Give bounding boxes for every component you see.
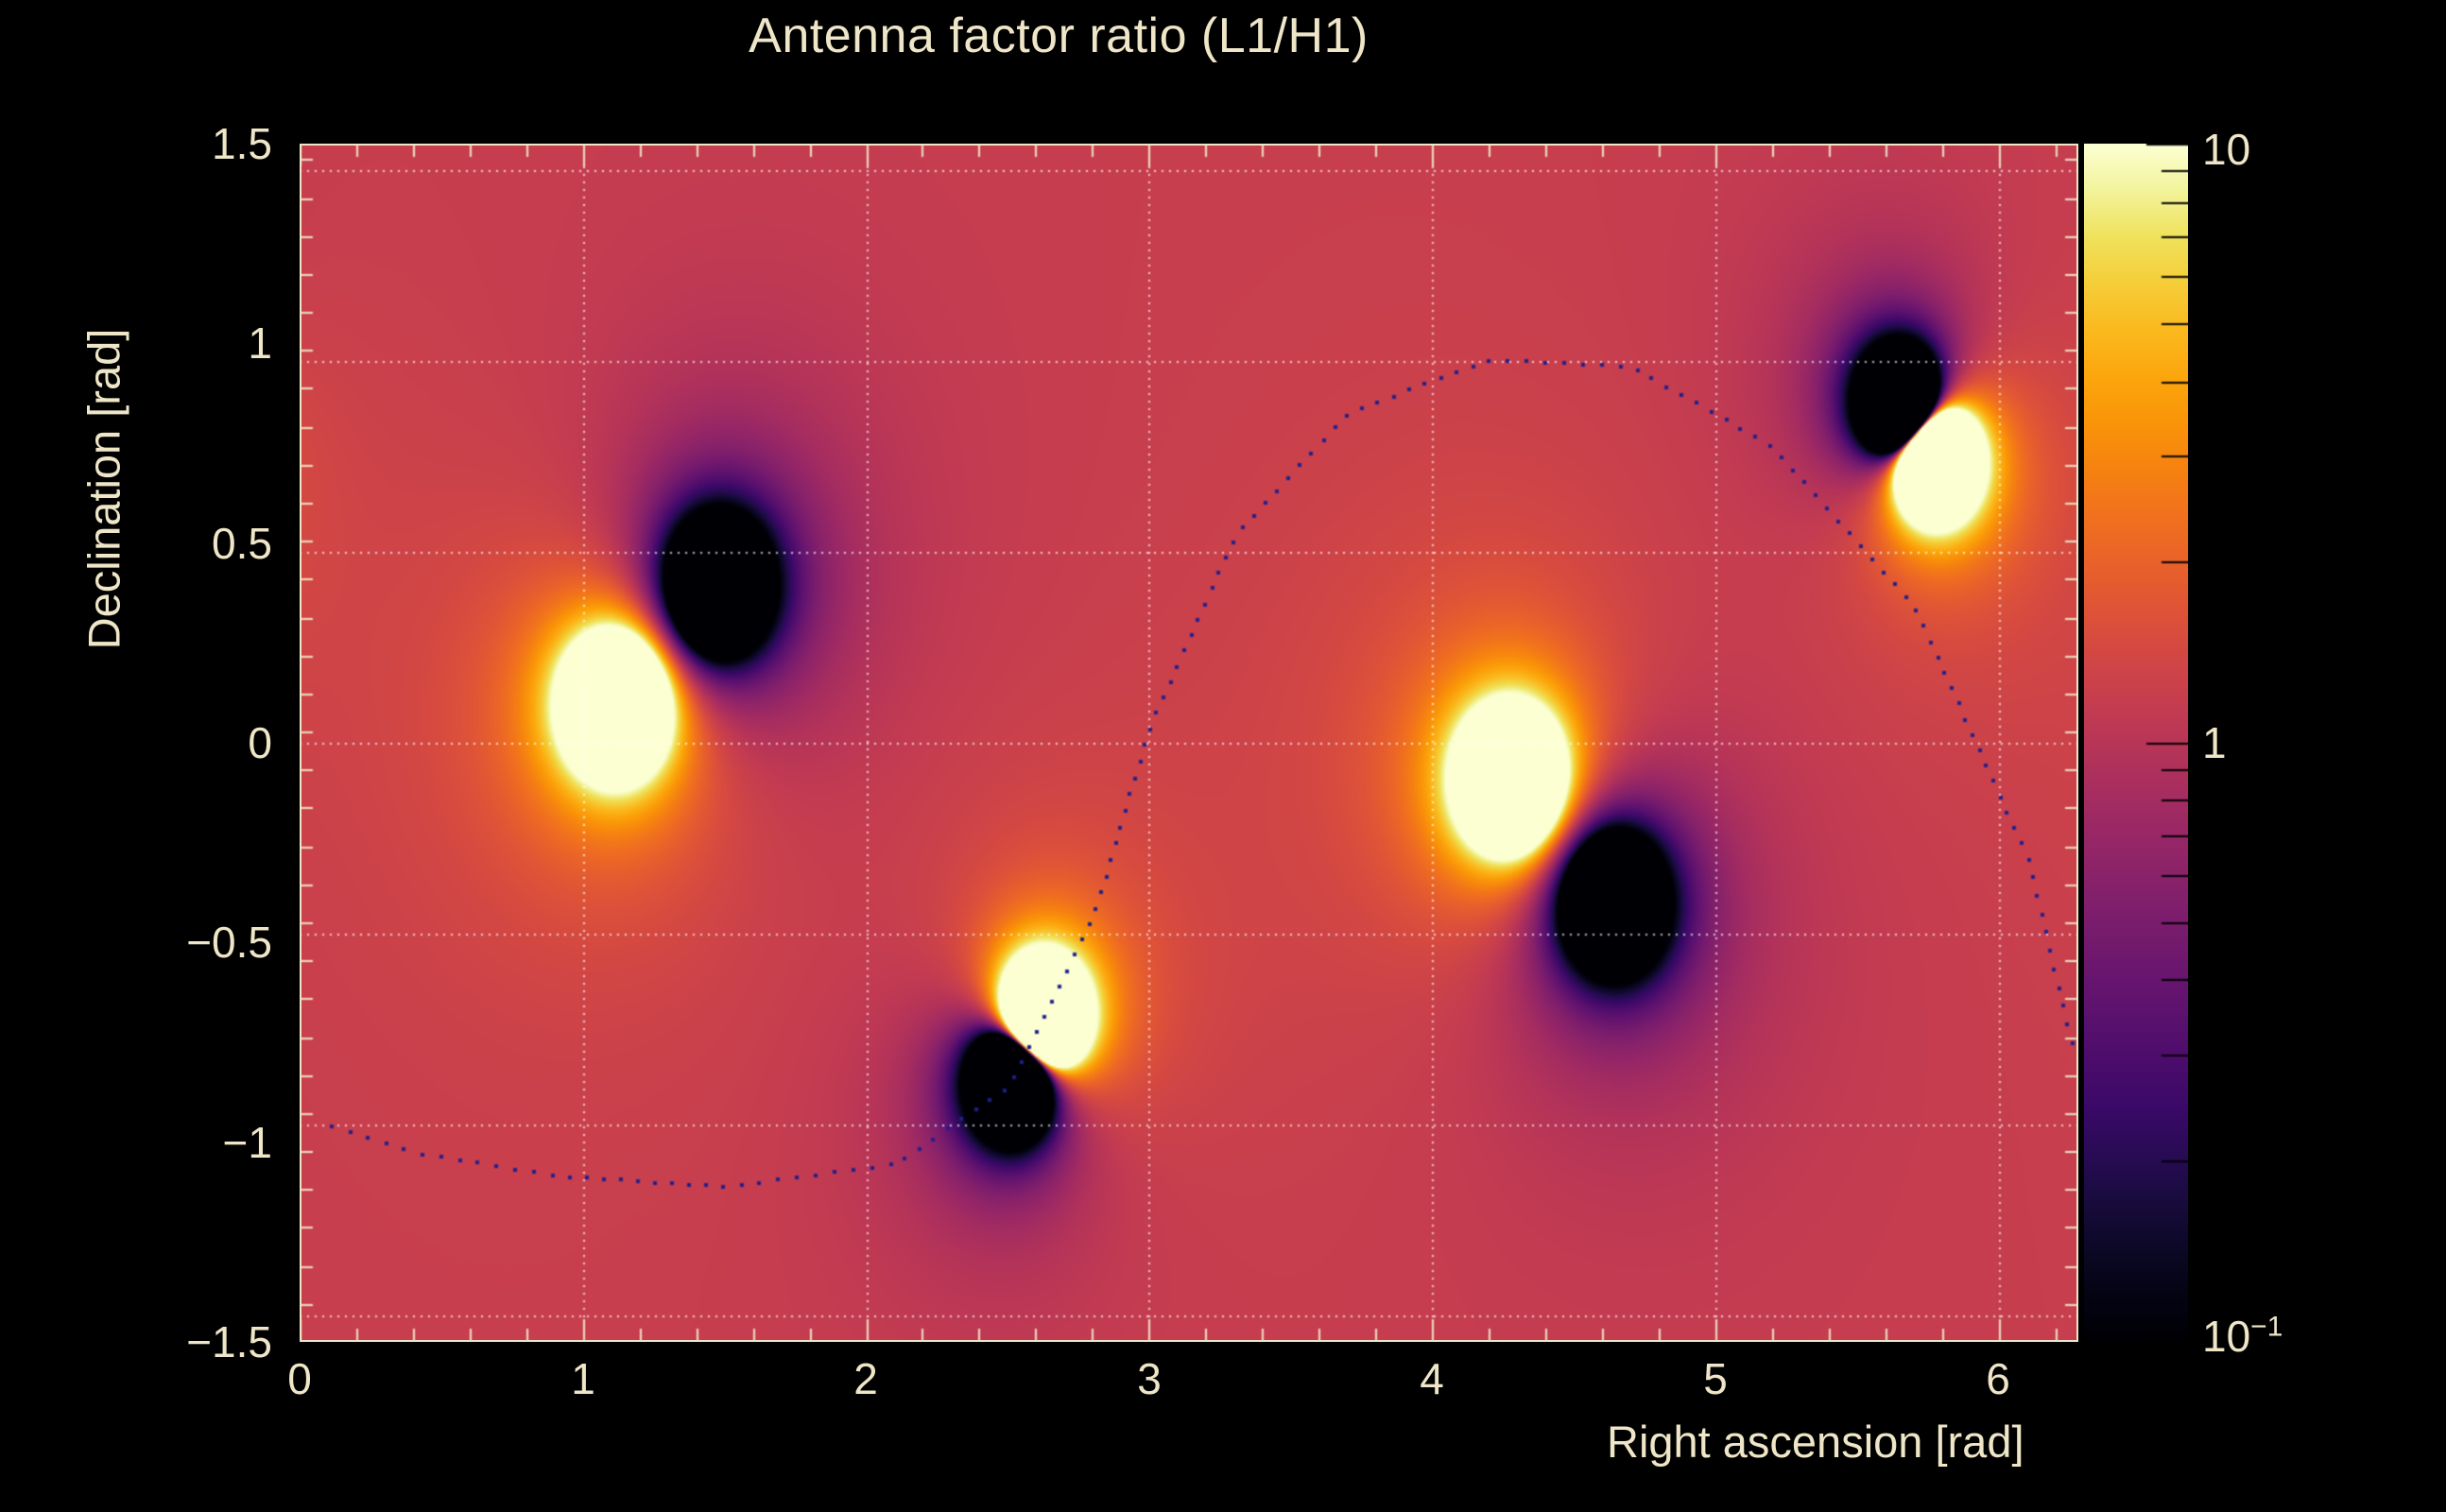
x-tick-label: 4	[1366, 1353, 1498, 1404]
y-tick-label: 1	[0, 318, 272, 369]
y-tick-label: 0.5	[0, 518, 272, 569]
x-tick-label: 5	[1649, 1353, 1782, 1404]
x-tick-label: 6	[1932, 1353, 2064, 1404]
y-tick-label: −0.5	[0, 917, 272, 968]
y-tick-label: 1.5	[0, 118, 272, 169]
y-tick-label: −1	[0, 1117, 272, 1168]
y-tick-label: −1.5	[0, 1316, 272, 1367]
colorbar-tick-label: 10	[2202, 124, 2250, 175]
plot-canvas-root: Antenna factor ratio (L1/H1) 1.5 1 0.5 0…	[0, 0, 2446, 1512]
x-tick-label: 3	[1083, 1353, 1215, 1404]
x-tick-label: 2	[800, 1353, 932, 1404]
colorbar	[2084, 144, 2188, 1342]
colorbar-tick-label: 1	[2202, 717, 2227, 768]
x-tick-label: 0	[233, 1353, 366, 1404]
x-axis-title: Right ascension [rad]	[1607, 1416, 2024, 1468]
colorbar-tick-label: 10−1	[2202, 1311, 2282, 1362]
page-title: Antenna factor ratio (L1/H1)	[0, 8, 2117, 64]
y-tick-label: 0	[0, 717, 272, 768]
x-tick-label: 1	[517, 1353, 649, 1404]
heatmap-image	[300, 144, 2078, 1342]
y-axis-title: Declination [rad]	[78, 187, 130, 792]
